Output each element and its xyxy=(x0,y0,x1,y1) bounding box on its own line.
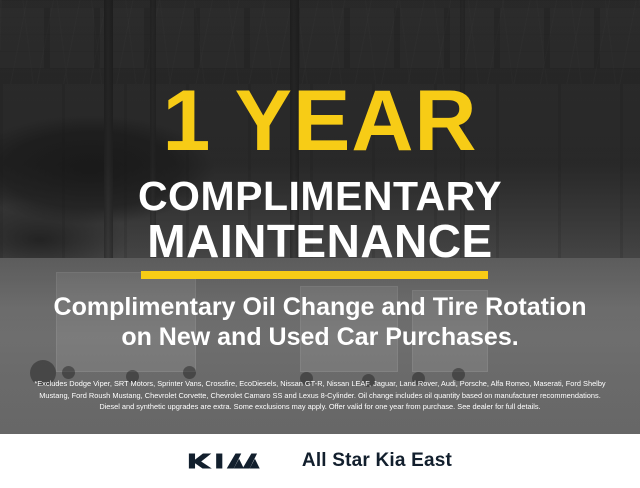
headline-year: 1 YEAR xyxy=(0,78,640,164)
disclaimer-line-3: Diesel and synthetic upgrades are extra.… xyxy=(14,401,626,413)
disclaimer-line-2: Mustang, Ford Roush Mustang, Chevrolet C… xyxy=(14,390,626,402)
headline-complimentary: COMPLIMENTARY xyxy=(0,176,640,217)
promo-banner: 1 YEAR COMPLIMENTARY MAINTENANCE Complim… xyxy=(0,0,640,488)
offer-line-1: Complimentary Oil Change and Tire Rotati… xyxy=(0,292,640,322)
headline-maintenance: MAINTENANCE xyxy=(0,218,640,264)
disclaimer-line-1: *Excludes Dodge Viper, SRT Motors, Sprin… xyxy=(14,378,626,390)
banner-content: 1 YEAR COMPLIMENTARY MAINTENANCE Complim… xyxy=(0,0,640,434)
yellow-divider-rule xyxy=(141,271,488,279)
footer-bar: All Star Kia East xyxy=(0,434,640,488)
offer-description: Complimentary Oil Change and Tire Rotati… xyxy=(0,292,640,352)
kia-logo-icon xyxy=(188,450,276,472)
offer-line-2: on New and Used Car Purchases. xyxy=(0,322,640,352)
dealer-name: All Star Kia East xyxy=(302,450,452,472)
legal-disclaimer: *Excludes Dodge Viper, SRT Motors, Sprin… xyxy=(14,378,626,413)
